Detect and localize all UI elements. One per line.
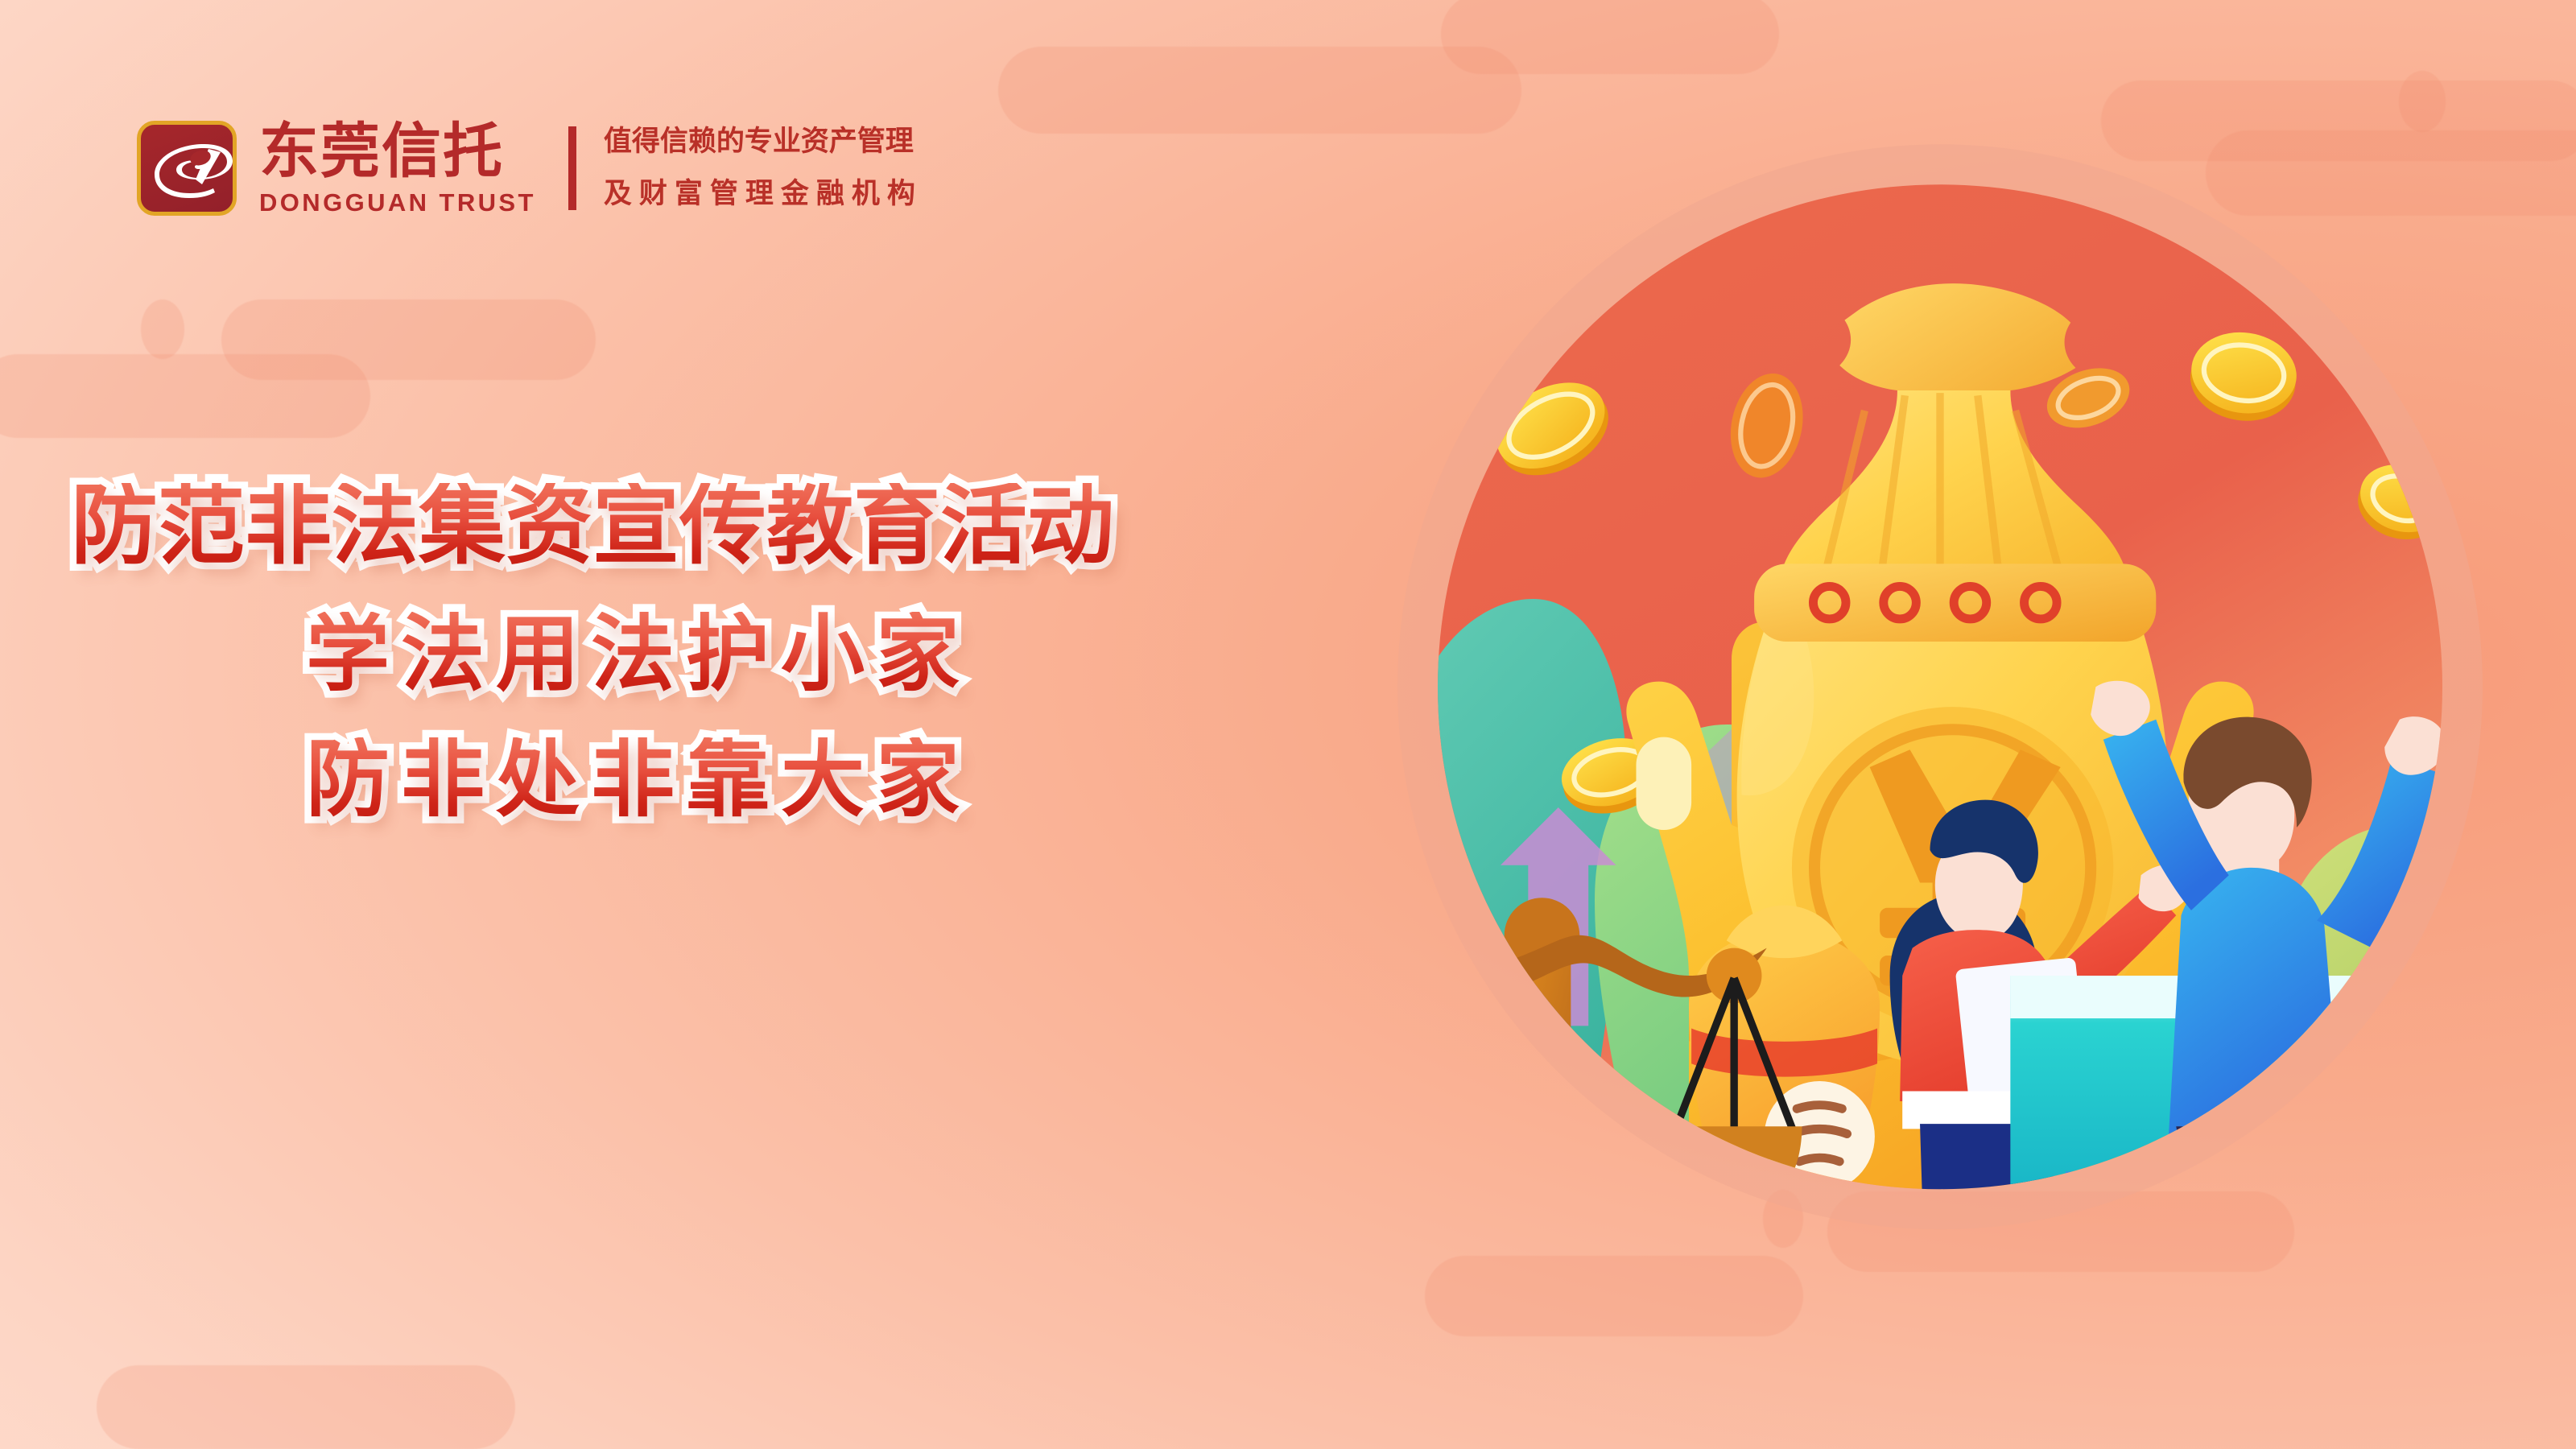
headline-line-3-wrap: 防非处非靠大家 防非处非靠大家 (0, 737, 1368, 821)
headline-line-1-wrap: 防范非法集资宣传教育活动 防范非法集资宣传教育活动 (0, 483, 1368, 570)
logo-tagline-divider (568, 126, 576, 210)
company-tagline: 值得信赖的专业资产管理 及财富管理金融机构 (604, 128, 923, 208)
logo-wordmark: 东莞信托 DONGGUAN TRUST (259, 122, 536, 215)
tagline-line-1: 值得信赖的专业资产管理 (604, 128, 923, 156)
headline-block: 防范非法集资宣传教育活动 防范非法集资宣传教育活动 学法用法护小家 学法用法护小… (0, 483, 1368, 821)
dongguan-trust-logo-mark (137, 121, 237, 216)
headline-line-1: 防范非法集资宣传教育活动 (0, 483, 1368, 570)
headline-line-3: 防非处非靠大家 (0, 737, 1368, 821)
anti-illegal-fundraising-illustration (1312, 97, 2568, 1352)
company-name-en: DONGGUAN TRUST (259, 190, 536, 215)
company-name-cn: 东莞信托 (259, 122, 536, 181)
headline-line-2-wrap: 学法用法护小家 学法用法护小家 (0, 612, 1368, 696)
brand-header: 东莞信托 DONGGUAN TRUST 值得信赖的专业资产管理 及财富管理金融机… (137, 121, 923, 216)
headline-line-2: 学法用法护小家 (0, 612, 1368, 696)
promotional-banner: 东莞信托 DONGGUAN TRUST 值得信赖的专业资产管理 及财富管理金融机… (0, 0, 2576, 1449)
tagline-line-2: 及财富管理金融机构 (604, 180, 923, 208)
gold-ingots (2317, 1084, 2549, 1265)
